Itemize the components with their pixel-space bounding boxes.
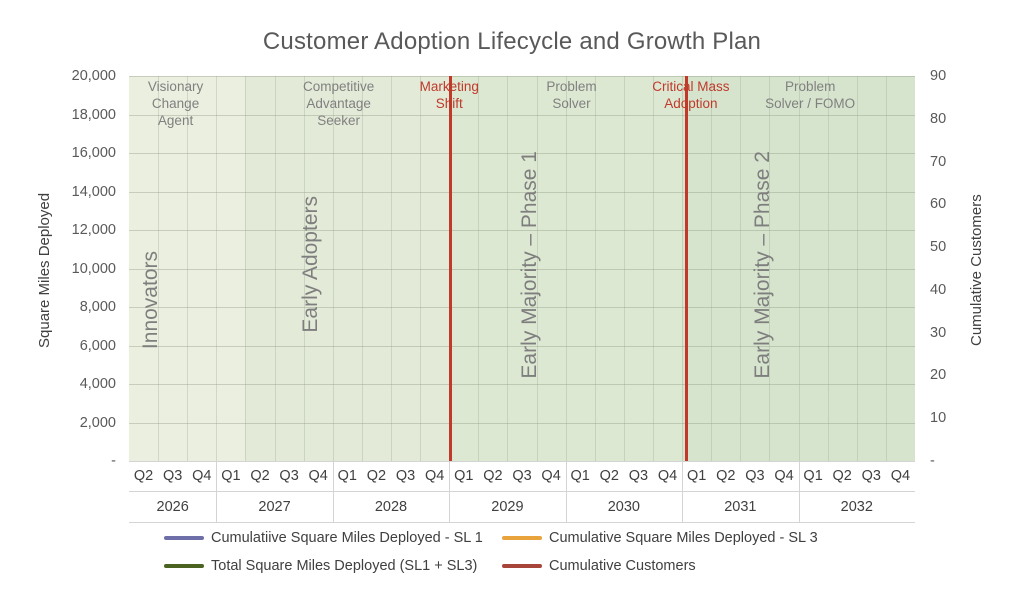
y-axis-right-tick: 50 [930, 239, 970, 255]
legend-swatch [502, 536, 542, 540]
x-axis-quarter-label: Q1 [682, 461, 711, 491]
quarter-separator [187, 76, 188, 461]
x-axis-quarter-label: Q4 [420, 461, 449, 491]
plot-area: InnovatorsEarly AdoptersEarly Majority –… [129, 76, 915, 461]
x-axis-year-label: 2031 [682, 491, 798, 523]
x-axis-quarter-label: Q3 [507, 461, 536, 491]
x-axis-year-label: 2028 [333, 491, 449, 523]
quarter-separator [507, 76, 508, 461]
y-axis-right-tick: 90 [930, 68, 970, 84]
x-axis-quarter-label: Q2 [828, 461, 857, 491]
x-axis-quarter-label: Q1 [216, 461, 245, 491]
x-axis-quarter-label: Q4 [653, 461, 682, 491]
quarter-separator [653, 76, 654, 461]
y-axis-left-tick: 2,000 [50, 415, 116, 431]
quarter-separator [420, 76, 421, 461]
y-axis-right-ticks: -102030405060708090 [930, 0, 970, 592]
quarter-separator [566, 76, 567, 461]
x-axis-year-label: 2027 [216, 491, 332, 523]
quarter-separator [478, 76, 479, 461]
y-axis-left-tick: 4,000 [50, 376, 116, 392]
quarter-separator [886, 76, 887, 461]
x-axis-quarter-label: Q3 [624, 461, 653, 491]
x-axis-year-divider [449, 461, 450, 522]
y-axis-right-tick: 40 [930, 282, 970, 298]
quarter-separator [682, 76, 683, 461]
x-axis-year-divider [799, 461, 800, 522]
x-axis-quarter-label: Q3 [275, 461, 304, 491]
x-axis-quarter-label: Q3 [158, 461, 187, 491]
chart-legend: Cumulatiive Square Miles Deployed - SL 1… [129, 528, 919, 586]
quarter-separator [624, 76, 625, 461]
x-axis-year-divider [333, 461, 334, 522]
x-axis-quarter-label: Q2 [362, 461, 391, 491]
legend-swatch [164, 536, 204, 540]
annotation-label: Visionary Change Agent [106, 78, 246, 129]
quarter-separator [711, 76, 712, 461]
legend-item[interactable]: Cumulative Square Miles Deployed - SL 3 [502, 530, 818, 546]
x-axis-quarter-label: Q3 [857, 461, 886, 491]
x-axis-quarter-label: Q4 [537, 461, 566, 491]
legend-item[interactable]: Total Square Miles Deployed (SL1 + SL3) [164, 558, 477, 574]
y-axis-right-tick: 70 [930, 154, 970, 170]
quarter-separator [857, 76, 858, 461]
quarter-separator [595, 76, 596, 461]
legend-label: Cumulatiive Square Miles Deployed - SL 1 [211, 530, 483, 546]
chart-container: Customer Adoption Lifecycle and Growth P… [0, 0, 1024, 592]
milestone-line-marketing-shift [449, 76, 452, 461]
quarter-separator [333, 76, 334, 461]
quarter-separator [391, 76, 392, 461]
x-axis-year-divider [682, 461, 683, 522]
quarter-separator [799, 76, 800, 461]
y-axis-left-tick: 14,000 [50, 184, 116, 200]
x-axis-year-label: 2030 [566, 491, 682, 523]
x-axis-quarter-label: Q4 [304, 461, 333, 491]
x-axis-quarter-label: Q1 [566, 461, 595, 491]
legend-item[interactable]: Cumulative Customers [502, 558, 696, 574]
x-axis-quarter-label: Q3 [391, 461, 420, 491]
y-axis-left-tick: 16,000 [50, 145, 116, 161]
gridline [129, 115, 915, 116]
x-axis-quarter-label: Q3 [740, 461, 769, 491]
legend-swatch [164, 564, 204, 568]
quarter-separator [740, 76, 741, 461]
x-axis-quarter-label: Q2 [478, 461, 507, 491]
legend-label: Cumulative Customers [549, 558, 696, 574]
x-axis-quarter-label: Q1 [799, 461, 828, 491]
y-axis-left-tick: 8,000 [50, 299, 116, 315]
y-axis-left-tick: 10,000 [50, 261, 116, 277]
y-axis-left-tick: 6,000 [50, 338, 116, 354]
annotation-label: Problem Solver / FOMO [740, 78, 880, 112]
x-axis-quarter-label: Q2 [595, 461, 624, 491]
quarter-separator [275, 76, 276, 461]
gridline [129, 76, 915, 77]
x-axis-year-label: 2032 [799, 491, 915, 523]
y-axis-left-tick: 12,000 [50, 222, 116, 238]
quarter-separator [216, 76, 217, 461]
y-axis-right-tick: 20 [930, 367, 970, 383]
milestone-line-critical-mass-adoption [685, 76, 688, 461]
x-axis-year-divider [566, 461, 567, 522]
chart-title: Customer Adoption Lifecycle and Growth P… [0, 28, 1024, 56]
gridline [129, 384, 915, 385]
legend-label: Cumulative Square Miles Deployed - SL 3 [549, 530, 818, 546]
annotation-label: Marketing Shift [379, 78, 519, 112]
x-axis-year-label: 2029 [449, 491, 565, 523]
x-axis-year-label: 2026 [129, 491, 216, 523]
phase-label: Early Adopters [299, 196, 323, 333]
y-axis-right-tick: 60 [930, 196, 970, 212]
x-axis-quarter-label: Q2 [245, 461, 274, 491]
phase-label: Early Majority – Phase 1 [518, 151, 542, 379]
quarter-separator [362, 76, 363, 461]
legend-item[interactable]: Cumulatiive Square Miles Deployed - SL 1 [164, 530, 483, 546]
phase-label: Innovators [139, 251, 163, 349]
y-axis-right-tick: - [930, 453, 970, 469]
x-axis-quarter-label: Q4 [187, 461, 216, 491]
y-axis-left-tick: - [50, 453, 116, 469]
legend-label: Total Square Miles Deployed (SL1 + SL3) [211, 558, 477, 574]
gridline [129, 423, 915, 424]
x-axis-quarter-label: Q4 [769, 461, 798, 491]
quarter-separator [245, 76, 246, 461]
x-axis-quarter-label: Q2 [129, 461, 158, 491]
x-axis: Q2Q3Q4Q1Q2Q3Q4Q1Q2Q3Q4Q1Q2Q3Q4Q1Q2Q3Q4Q1… [129, 461, 915, 523]
y-axis-right-title: Cumulative Customers [968, 170, 985, 370]
x-axis-quarter-label: Q1 [333, 461, 362, 491]
x-axis-quarter-label: Q2 [711, 461, 740, 491]
x-axis-year-divider [216, 461, 217, 522]
y-axis-right-tick: 10 [930, 410, 970, 426]
x-axis-quarter-label: Q4 [886, 461, 915, 491]
y-axis-right-tick: 80 [930, 111, 970, 127]
x-axis-quarter-label: Q1 [449, 461, 478, 491]
phase-label: Early Majority – Phase 2 [751, 151, 775, 379]
y-axis-right-tick: 30 [930, 325, 970, 341]
quarter-separator [828, 76, 829, 461]
legend-swatch [502, 564, 542, 568]
